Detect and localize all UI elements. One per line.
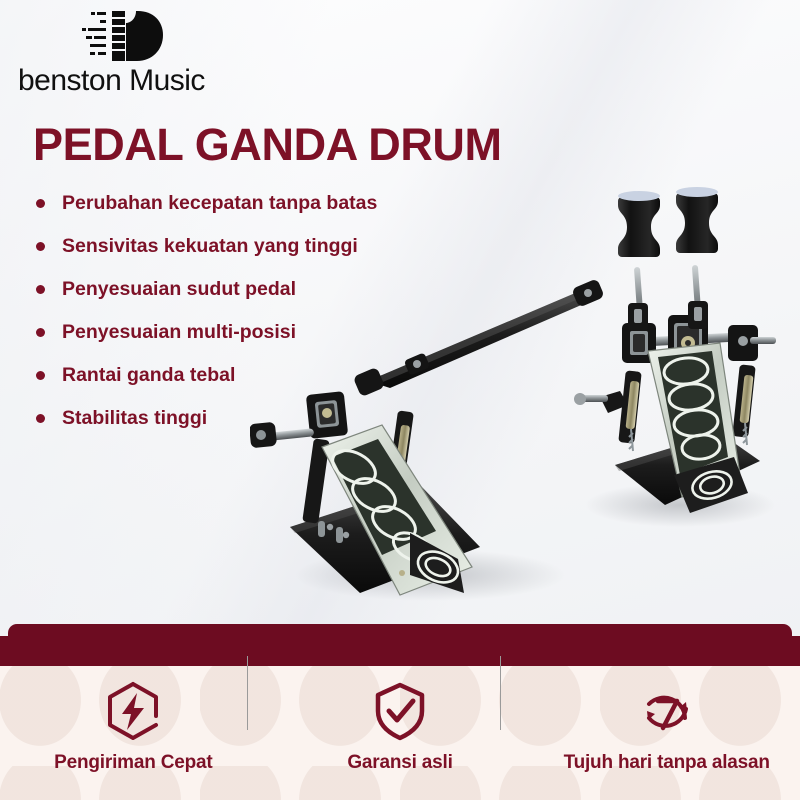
guarantee-list: Pengiriman Cepat Garansi asli [0,666,800,800]
divider [500,656,501,730]
guarantee-label: Tujuh hari tanpa alasan [564,752,770,774]
lightning-bolt-hexagon-icon [102,680,164,742]
page-title: PEDAL GANDA DRUM [33,119,502,171]
bullet-dot-icon [36,414,45,423]
divider [247,656,248,730]
guarantee-item-warranty: Garansi asli [267,666,534,800]
brand-name: benston Music [18,64,258,98]
guarantee-item-shipping: Pengiriman Cepat [0,666,267,800]
shield-check-icon [369,680,431,742]
guarantee-item-return: Tujuh hari tanpa alasan [533,666,800,800]
feature-text: Rantai ganda tebal [62,364,235,386]
feature-text: Stabilitas tinggi [62,407,207,429]
grand-piano-icon [80,10,164,62]
bullet-dot-icon [36,242,45,251]
guarantee-label: Garansi asli [347,752,452,774]
bullet-dot-icon [36,371,45,380]
trust-band: Pengiriman Cepat Garansi asli [0,624,800,800]
guarantee-label: Pengiriman Cepat [54,752,212,774]
bullet-dot-icon [36,328,45,337]
bullet-dot-icon [36,199,45,208]
bullet-dot-icon [36,285,45,294]
product-poster: benston Music PEDAL GANDA DRUM Perubahan… [0,0,800,800]
brand-logo: benston Music [18,8,258,108]
band-accent-bar [8,624,792,666]
product-image [250,175,800,625]
seven-day-return-icon [636,680,698,742]
